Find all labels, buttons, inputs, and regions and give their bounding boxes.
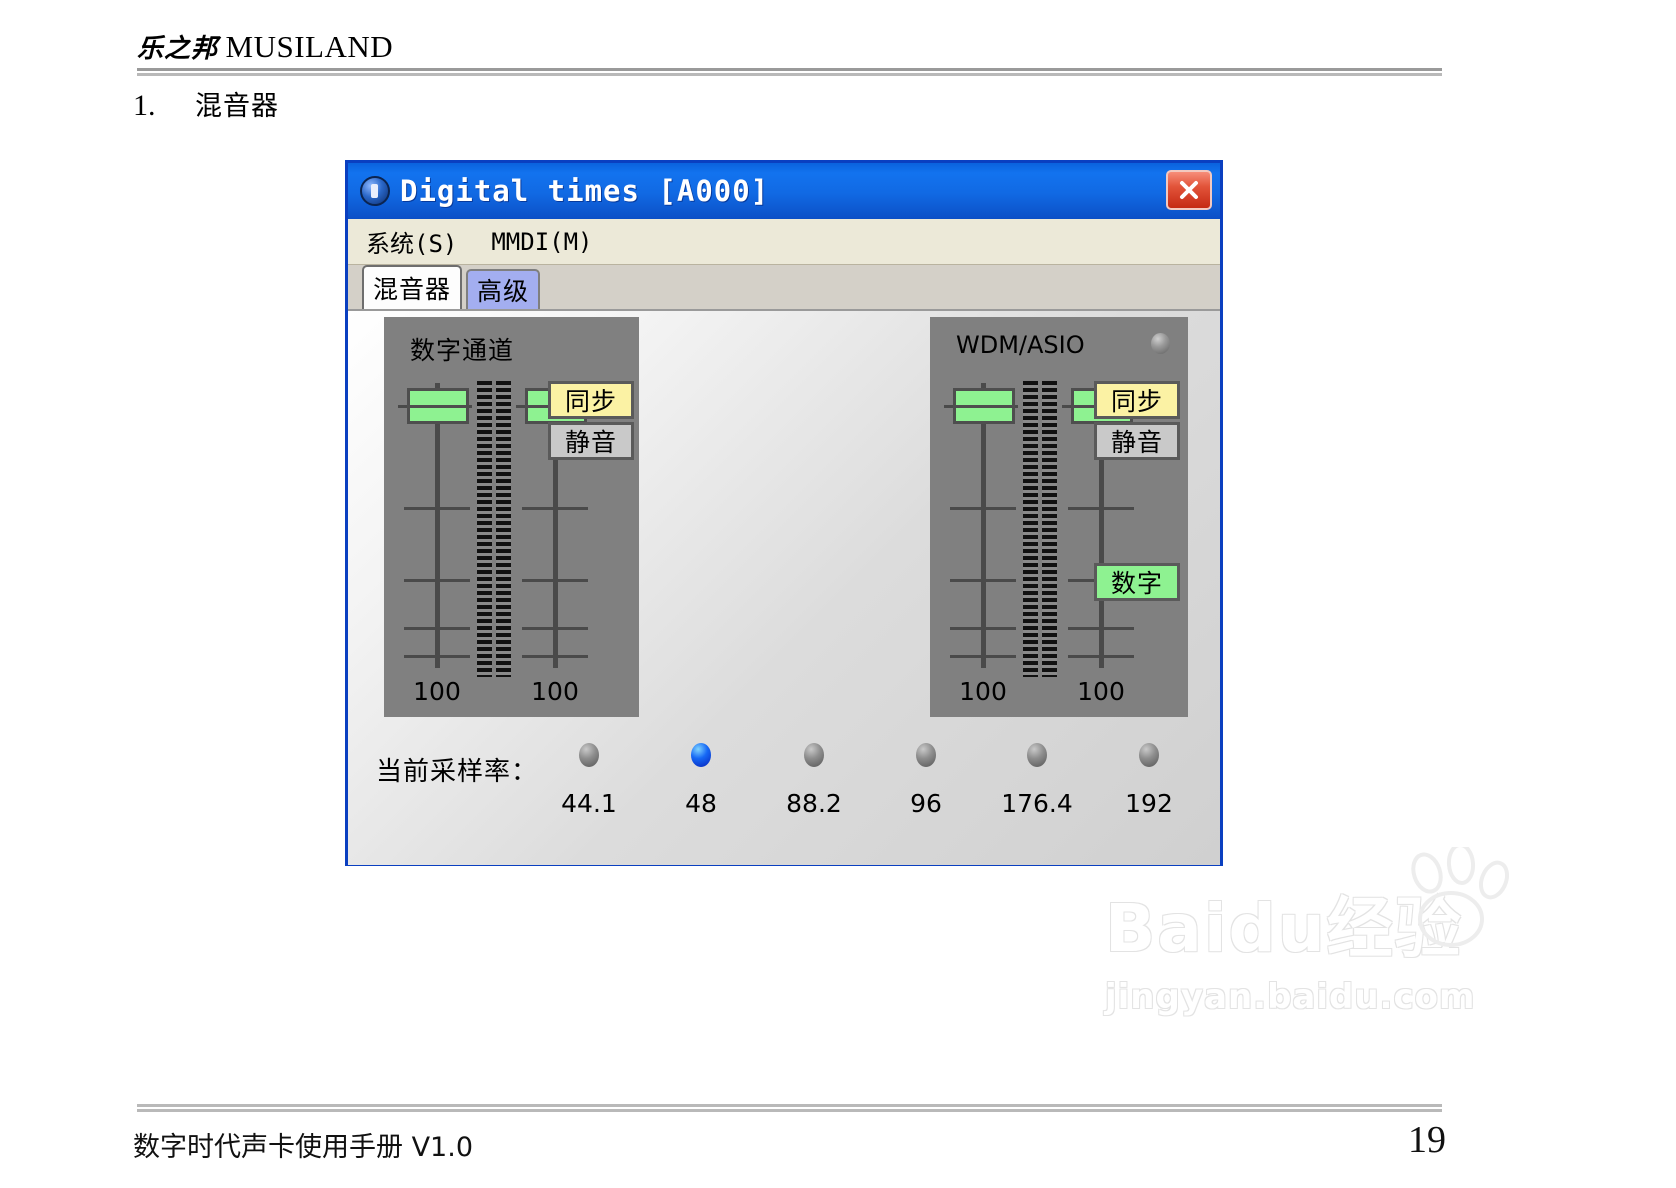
menu-item-system[interactable]: 系统(S) [366, 224, 457, 259]
app-disc-icon [360, 176, 390, 206]
meter-column-right [496, 381, 511, 677]
menu-bar: 系统(S) MMDI(M) [348, 219, 1220, 265]
panel-title-digital-channel: 数字通道 [410, 331, 514, 367]
fader-value-digital-right: 100 [510, 677, 600, 706]
fader-tick [522, 655, 588, 658]
section-title: 混音器 [195, 91, 279, 122]
fader-tick [950, 507, 1016, 510]
sample-rate-value: 44.1 [541, 789, 637, 818]
sample-rate-option-192[interactable]: 192 [1101, 743, 1197, 818]
sample-rate-value: 176.4 [989, 789, 1085, 818]
sample-rate-led-icon [1139, 743, 1159, 767]
header-divider [137, 68, 1442, 75]
brand-name-cn: 乐之邦 [137, 34, 218, 64]
fader-track [981, 383, 986, 668]
button-sync-digital[interactable]: 同步 [548, 381, 634, 419]
brand-line: 乐之邦 MUSILAND [137, 28, 1442, 65]
sample-rate-option-88-2[interactable]: 88.2 [766, 743, 862, 818]
fader-track [435, 383, 440, 668]
application-window: Digital times [A000] 系统(S) MMDI(M) 混音器 高… [345, 160, 1223, 866]
document-header: 乐之邦 MUSILAND [137, 28, 1442, 65]
panel-title-wdm-asio: WDM/ASIO [956, 331, 1085, 359]
tab-page-mixer: 数字通道 [348, 309, 1220, 865]
footer-title: 数字时代声卡使用手册 V1.0 [133, 1125, 473, 1164]
fader-value-wdm-right: 100 [1056, 677, 1146, 706]
window-title: Digital times [A000] [400, 174, 769, 208]
button-sync-wdm[interactable]: 同步 [1094, 381, 1180, 419]
sample-rate-led-icon [1027, 743, 1047, 767]
sample-rate-led-icon [916, 743, 936, 767]
fader-value-wdm-left: 100 [938, 677, 1028, 706]
tab-advanced[interactable]: 高级 [466, 269, 540, 309]
section-heading: 1.混音器 [133, 84, 279, 123]
fader-knob[interactable] [953, 388, 1015, 424]
fader-tick [950, 579, 1016, 582]
page-number: 19 [1408, 1118, 1446, 1162]
watermark-sub-text: jingyan.baidu.com [1105, 977, 1525, 1017]
sample-rate-row: 当前采样率： 44.1 48 88.2 96 176.4 [348, 729, 1220, 849]
footer-divider [137, 1104, 1442, 1111]
fader-tick [522, 579, 588, 582]
fader-knob[interactable] [407, 388, 469, 424]
meter-column-right [1042, 381, 1057, 677]
baidu-watermark: Baidu经验 jingyan.baidu.com [1105, 875, 1525, 1055]
watermark-main-text: Baidu经验 [1105, 875, 1525, 971]
fader-tick [1068, 655, 1134, 658]
sample-rate-label: 当前采样率： [376, 751, 538, 788]
sample-rate-value: 192 [1101, 789, 1197, 818]
panel-digital-channel: 数字通道 [384, 317, 639, 717]
status-led-icon [1151, 333, 1170, 354]
sample-rate-option-176-4[interactable]: 176.4 [989, 743, 1085, 818]
button-digital-wdm[interactable]: 数字 [1094, 563, 1180, 601]
fader-wdm-left[interactable] [950, 383, 1016, 668]
fader-tick [1068, 627, 1134, 630]
sample-rate-option-96[interactable]: 96 [878, 743, 974, 818]
level-meter-wdm [1023, 381, 1057, 677]
fader-tick [522, 627, 588, 630]
sample-rate-option-48[interactable]: 48 [653, 743, 749, 818]
fader-tick [404, 655, 470, 658]
sample-rate-led-icon [804, 743, 824, 767]
button-mute-wdm[interactable]: 静音 [1094, 422, 1180, 460]
fader-tick [404, 507, 470, 510]
sample-rate-value: 96 [878, 789, 974, 818]
fader-digital-left[interactable] [404, 383, 470, 668]
tab-strip: 混音器 高级 [348, 265, 1220, 309]
meter-column-left [477, 381, 492, 677]
sample-rate-value: 88.2 [766, 789, 862, 818]
tab-mixer[interactable]: 混音器 [362, 265, 462, 309]
panel-wdm-asio: WDM/ASIO [930, 317, 1188, 717]
meter-column-left [1023, 381, 1038, 677]
fader-value-digital-left: 100 [392, 677, 482, 706]
fader-tick [950, 627, 1016, 630]
window-titlebar[interactable]: Digital times [A000] [348, 163, 1220, 219]
button-mute-digital[interactable]: 静音 [548, 422, 634, 460]
sample-rate-value: 48 [653, 789, 749, 818]
fader-tick [950, 655, 1016, 658]
brand-name-en: MUSILAND [226, 29, 394, 64]
fader-tick [1068, 507, 1134, 510]
fader-tick [404, 579, 470, 582]
section-number: 1. [133, 89, 195, 123]
paw-icon [1399, 847, 1519, 957]
sample-rate-led-icon [579, 743, 599, 767]
close-icon[interactable] [1166, 170, 1212, 210]
level-meter-digital [477, 381, 511, 677]
menu-item-mmdi[interactable]: MMDI(M) [491, 228, 592, 256]
fader-tick [404, 627, 470, 630]
sample-rate-option-44-1[interactable]: 44.1 [541, 743, 637, 818]
sample-rate-led-icon [691, 743, 711, 767]
fader-tick [522, 507, 588, 510]
